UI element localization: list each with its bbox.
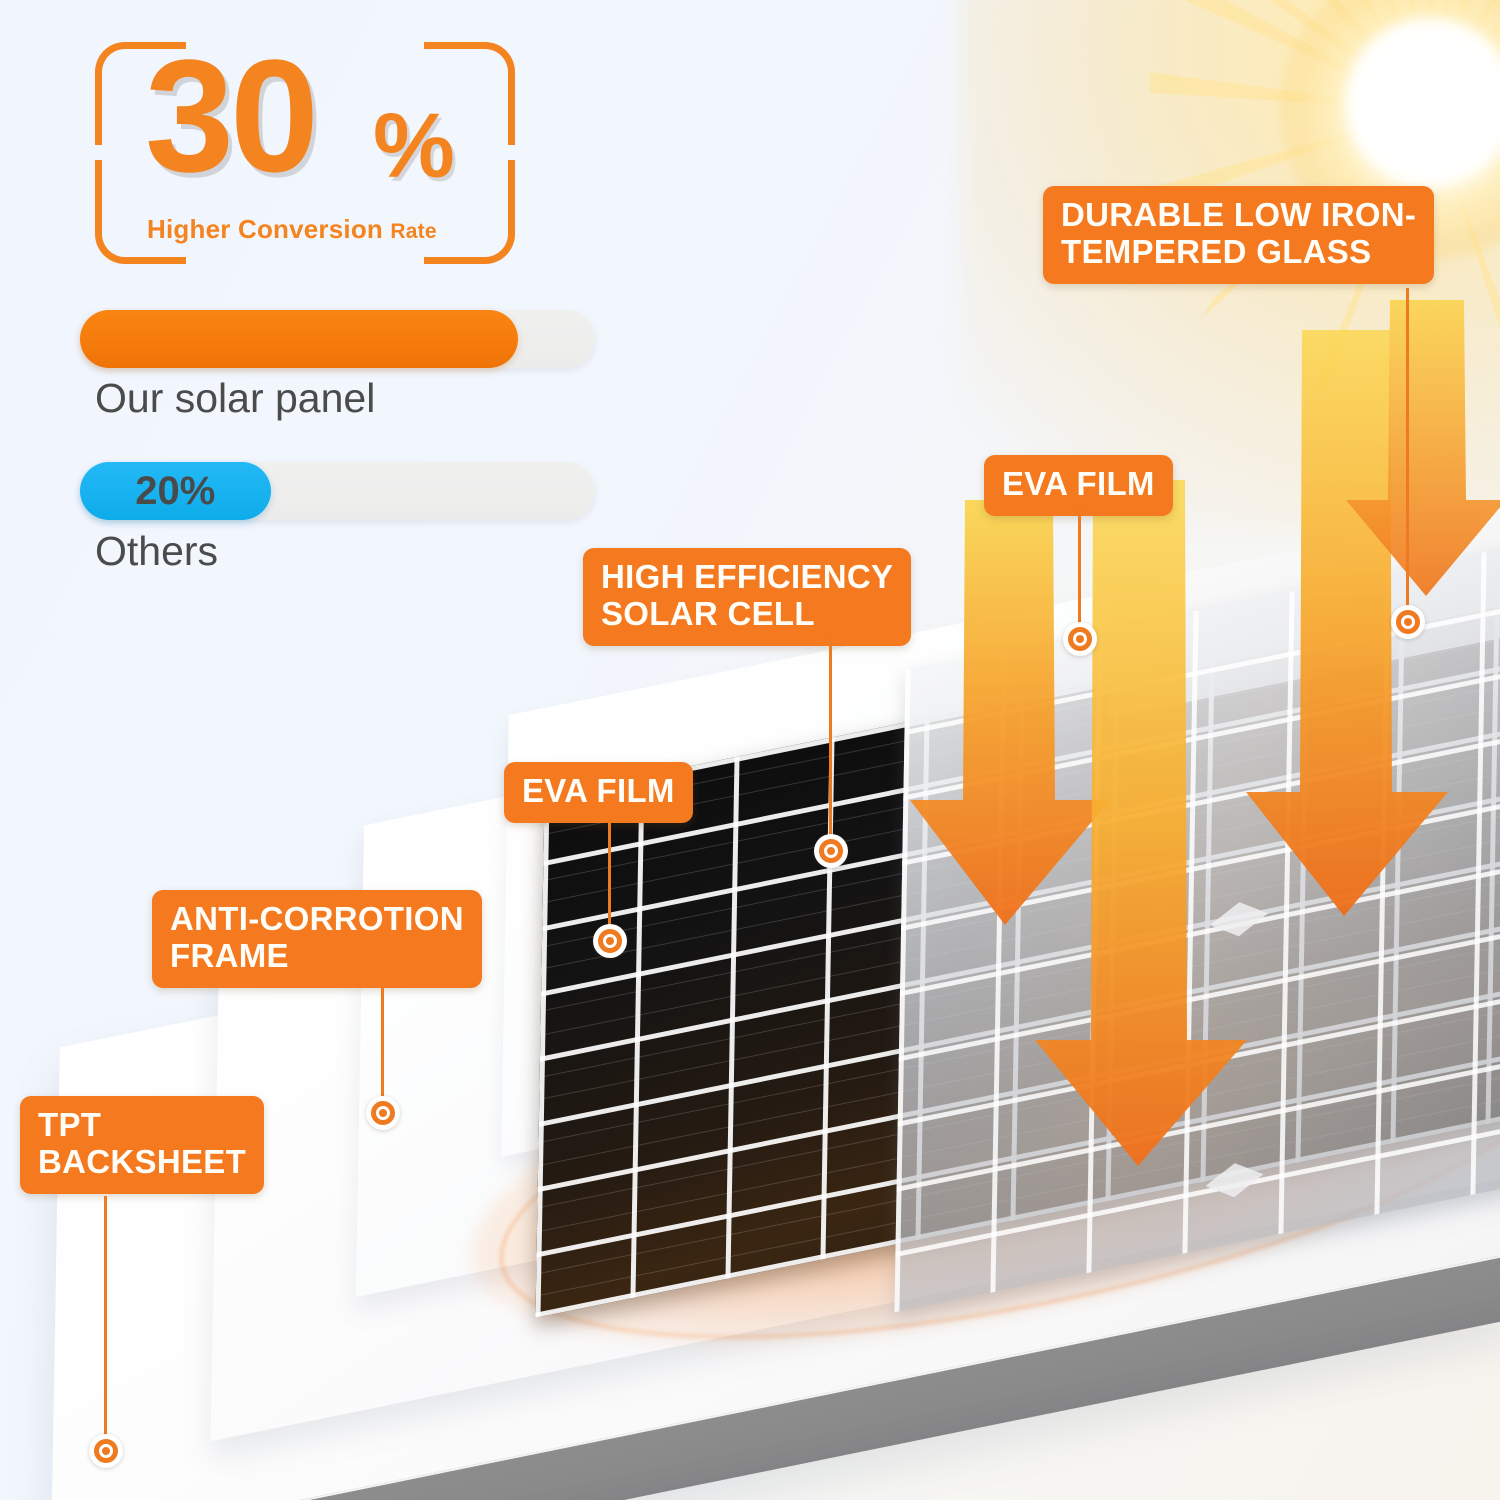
connector-durable-glass	[1406, 288, 1409, 613]
conversion-rate-badge: 30 % Higher Conversion Rate	[95, 42, 515, 257]
infographic-canvas: 30 % Higher Conversion Rate Our solar pa…	[0, 0, 1500, 1500]
bar-fill-others: 20%	[80, 462, 271, 520]
connector-solar-cell	[829, 637, 832, 844]
badge-subtitle: Higher Conversion Rate	[147, 214, 437, 245]
bar-track-our-panel	[80, 310, 595, 368]
bar-label-others: Others	[95, 528, 218, 575]
bar-value-our-panel	[80, 310, 518, 368]
badge-subtitle-main: Higher Conversion	[147, 214, 390, 244]
badge-subtitle-small: Rate	[390, 220, 436, 243]
callout-durable-glass[interactable]: DURABLE LOW IRON- TEMPERED GLASS	[1043, 186, 1434, 284]
marker-durable-glass[interactable]	[1391, 605, 1425, 639]
callout-eva-film-top[interactable]: EVA FILM	[984, 455, 1173, 516]
connector-anti-corrosion-frame	[381, 988, 384, 1106]
bar-value-others: 20%	[80, 462, 271, 520]
badge-number: 30	[145, 36, 315, 196]
callout-anti-corrosion-frame[interactable]: ANTI-CORROTION FRAME	[152, 890, 482, 988]
badge-percent-sign: %	[373, 100, 455, 192]
marker-eva-film-left[interactable]	[593, 924, 627, 958]
connector-eva-film-top	[1078, 508, 1081, 628]
bar-label-our-panel: Our solar panel	[95, 375, 375, 422]
marker-tpt-backsheet[interactable]	[89, 1434, 123, 1468]
bar-track-others: 20%	[80, 462, 595, 520]
bar-fill-our-panel	[80, 310, 518, 368]
callout-eva-film-left[interactable]: EVA FILM	[504, 762, 693, 823]
marker-solar-cell[interactable]	[814, 834, 848, 868]
connector-tpt-backsheet	[104, 1196, 107, 1446]
marker-anti-corrosion-frame[interactable]	[366, 1096, 400, 1130]
callout-solar-cell[interactable]: HIGH EFFICIENCY SOLAR CELL	[583, 548, 911, 646]
callout-tpt-backsheet[interactable]: TPT BACKSHEET	[20, 1096, 264, 1194]
marker-eva-film-top[interactable]	[1063, 622, 1097, 656]
connector-eva-film-left	[608, 818, 611, 933]
